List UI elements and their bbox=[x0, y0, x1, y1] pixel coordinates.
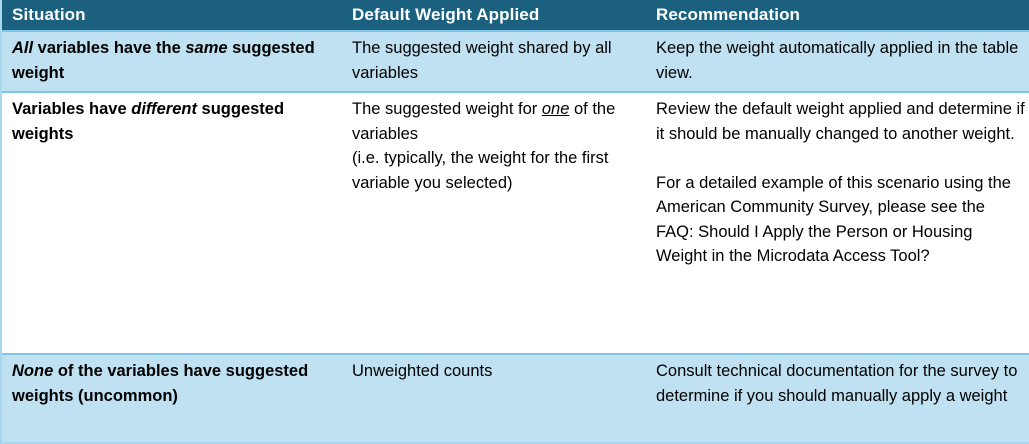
table-row: Variables have different suggested weigh… bbox=[2, 92, 1029, 354]
cell-situation-different: Variables have different suggested weigh… bbox=[2, 92, 342, 354]
emphasis-all: All bbox=[12, 39, 33, 57]
weights-guidance-table-container: Situation Default Weight Applied Recomme… bbox=[0, 0, 1029, 444]
column-header-default-weight-applied: Default Weight Applied bbox=[342, 0, 644, 31]
paragraph-spacer bbox=[656, 146, 1025, 171]
emphasis-different: different bbox=[131, 100, 197, 118]
column-header-recommendation: Recommendation bbox=[644, 0, 1029, 31]
table-header: Situation Default Weight Applied Recomme… bbox=[2, 0, 1029, 31]
default-weight-guidance-table: Situation Default Weight Applied Recomme… bbox=[2, 0, 1029, 442]
cell-default-weight-different: The suggested weight for one of the vari… bbox=[342, 92, 644, 354]
situation-none-text: of the variables have suggested weights … bbox=[12, 362, 308, 405]
emphasis-same: same bbox=[185, 39, 227, 57]
cell-situation-none: None of the variables have suggested wei… bbox=[2, 354, 342, 442]
cell-recommendation-none: Consult technical documentation for the … bbox=[644, 354, 1029, 442]
table-body: All variables have the same suggested we… bbox=[2, 31, 1029, 442]
recommendation-paragraph-1: Review the default weight applied and de… bbox=[656, 97, 1025, 146]
emphasis-one-underlined: one bbox=[542, 100, 570, 118]
default-weight-part-1: The suggested weight for bbox=[352, 100, 542, 118]
situation-prefix: Variables have bbox=[12, 100, 131, 118]
emphasis-none: None bbox=[12, 362, 53, 380]
header-row: Situation Default Weight Applied Recomme… bbox=[2, 0, 1029, 31]
table-row: None of the variables have suggested wei… bbox=[2, 354, 1029, 442]
cell-recommendation-all-same: Keep the weight automatically applied in… bbox=[644, 31, 1029, 92]
cell-recommendation-different: Review the default weight applied and de… bbox=[644, 92, 1029, 354]
column-header-situation: Situation bbox=[2, 0, 342, 31]
recommendation-paragraph-2: For a detailed example of this scenario … bbox=[656, 171, 1025, 269]
table-row: All variables have the same suggested we… bbox=[2, 31, 1029, 92]
cell-situation-all-same: All variables have the same suggested we… bbox=[2, 31, 342, 92]
default-weight-part-3: (i.e. typically, the weight for the firs… bbox=[352, 146, 632, 195]
situation-text-part-1: variables have the bbox=[33, 39, 185, 57]
cell-default-weight-all-same: The suggested weight shared by all varia… bbox=[342, 31, 644, 92]
cell-default-weight-none: Unweighted counts bbox=[342, 354, 644, 442]
